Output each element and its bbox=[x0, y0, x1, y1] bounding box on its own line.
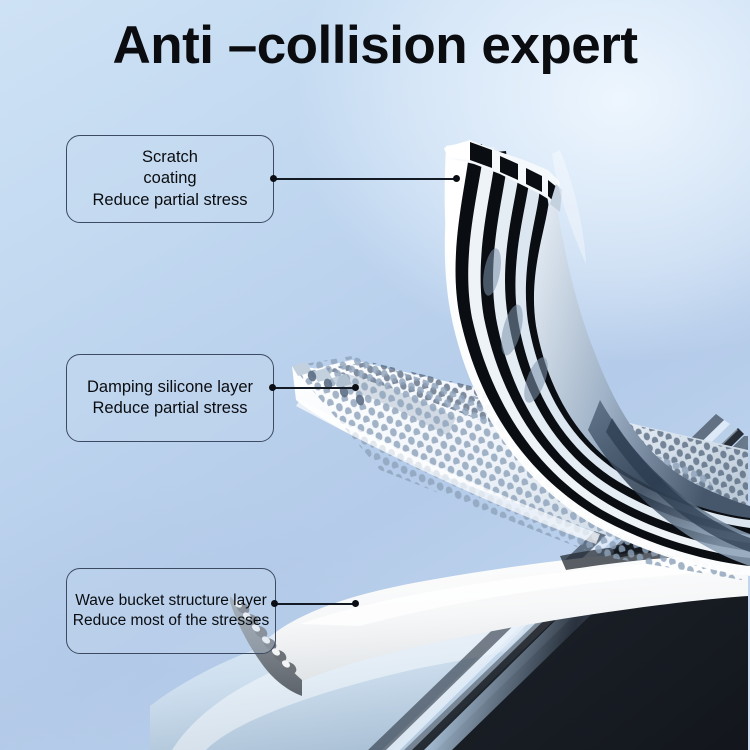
leader-line-wave-bucket bbox=[273, 603, 357, 605]
callout-2-line-2: Reduce partial stress bbox=[93, 398, 248, 419]
callout-damping-silicone-layer: Damping silicone layer Reduce partial st… bbox=[66, 354, 274, 442]
callout-3-line-1: Wave bucket structure layer bbox=[75, 591, 267, 611]
callout-scratch-coating: Scratch coating Reduce partial stress bbox=[66, 135, 274, 223]
callout-2-line-1: Damping silicone layer bbox=[87, 377, 253, 398]
callout-1-line-1: Scratch bbox=[142, 147, 198, 168]
callout-wave-bucket-structure-layer: Wave bucket structure layer Reduce most … bbox=[66, 568, 276, 654]
leader-line-scratch-coating bbox=[272, 178, 458, 180]
leader-line-damping-silicone bbox=[271, 387, 357, 389]
page-title: Anti –collision expert bbox=[0, 16, 750, 75]
poster-canvas: Anti –collision expert Scratch coating R… bbox=[0, 0, 750, 750]
callout-3-line-2: Reduce most of the stresses bbox=[73, 611, 269, 631]
callout-1-line-3: Reduce partial stress bbox=[93, 190, 248, 211]
callout-1-line-2: coating bbox=[143, 168, 196, 189]
